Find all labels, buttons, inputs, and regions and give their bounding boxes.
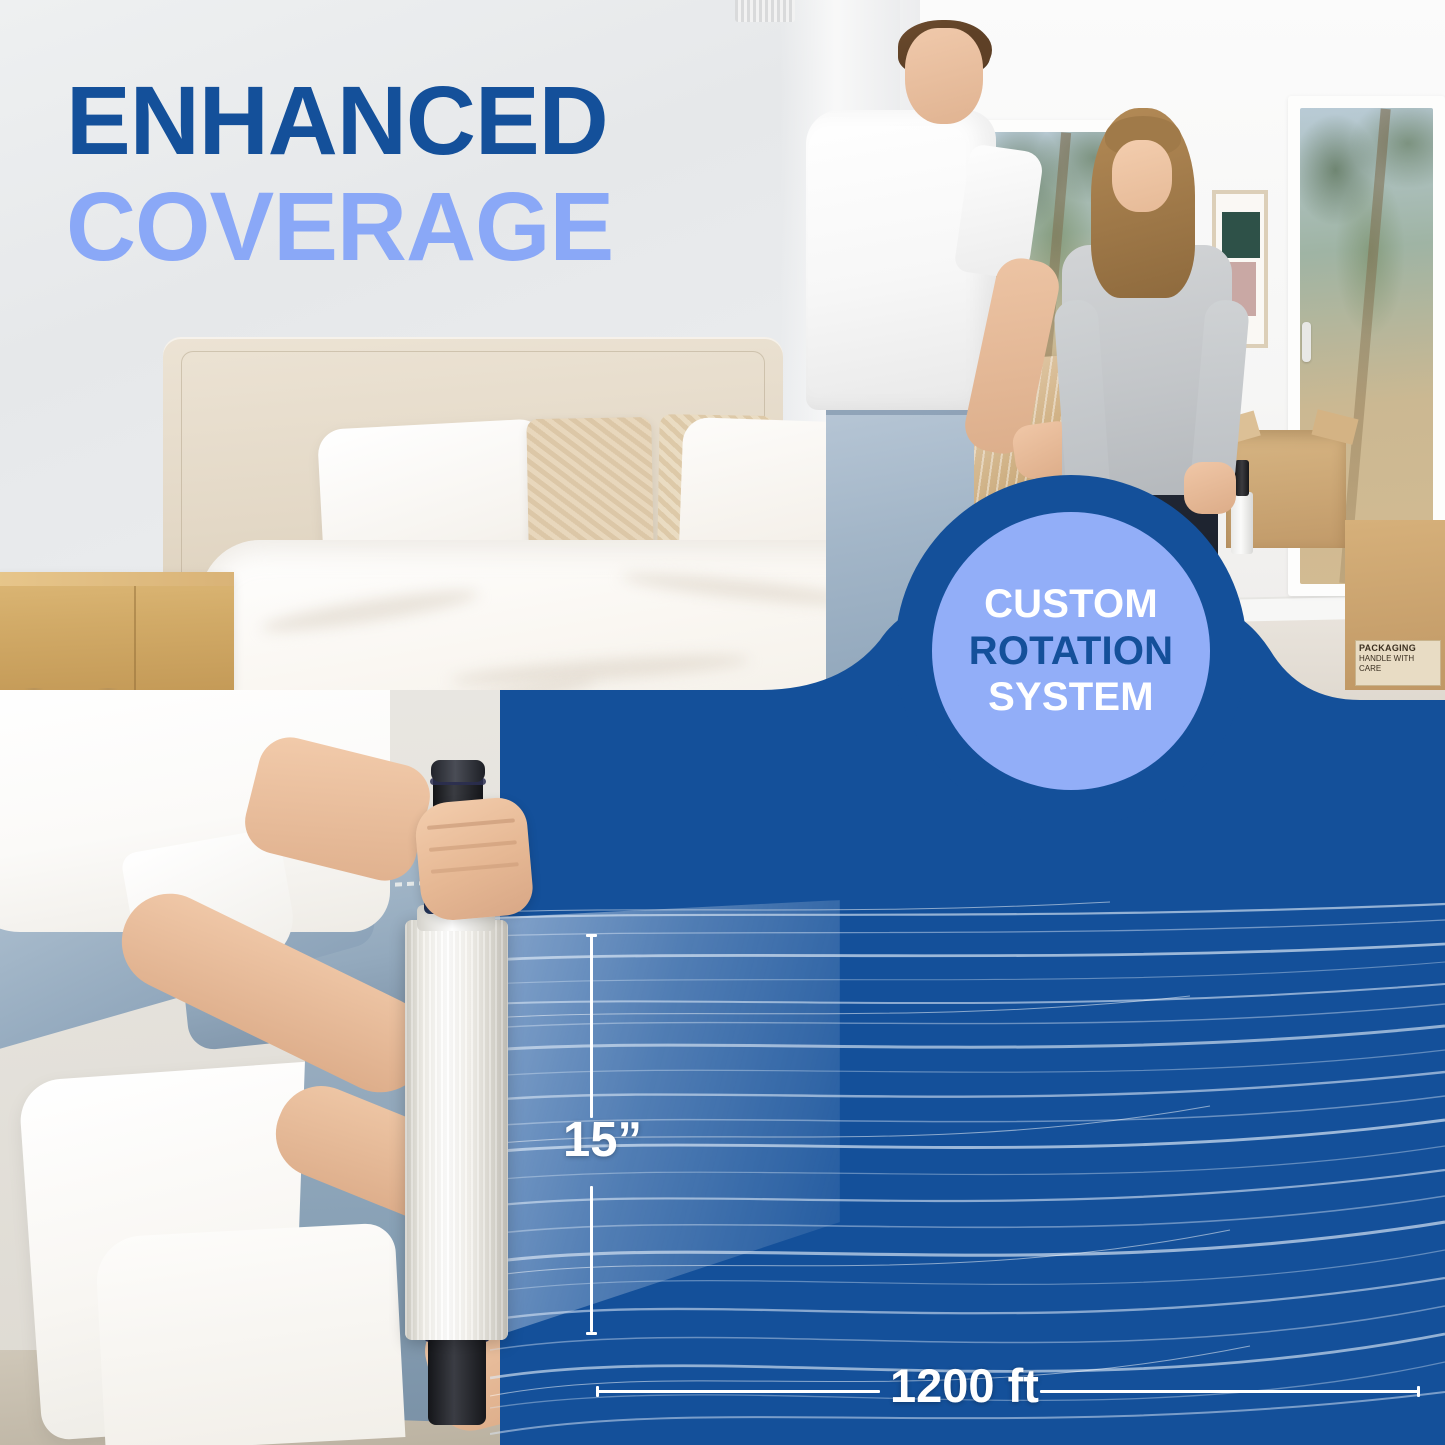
handle-top-knob [431,760,485,782]
length-cap-right [1417,1386,1420,1397]
length-dimension-label: 1200 ft [890,1358,1039,1413]
height-segment-lower [590,1186,593,1332]
badge-line-rotation: ROTATION [969,629,1174,674]
height-cap-bottom [586,1332,597,1335]
man-head [905,28,983,124]
headline-line-coverage: COVERAGE [66,175,826,280]
headline-line-enhanced: ENHANCED [66,72,826,169]
gripping-hand [413,795,535,922]
length-segment-right [1040,1390,1418,1393]
box-shipping-label: PACKAGING HANDLE WITH CARE [1355,640,1441,686]
badge-inner-circle: CUSTOM ROTATION SYSTEM [932,512,1210,790]
headline: ENHANCED COVERAGE [66,72,826,280]
person-tshirt-hem [95,1222,406,1445]
nightstand [0,572,234,692]
height-segment-upper [590,936,593,1118]
window-handle [1302,322,1311,362]
product-feature-poster: PACKAGING HANDLE WITH CARE [0,0,1445,1445]
woman-hand [1184,462,1236,514]
woman-face [1112,140,1172,212]
length-segment-left [598,1390,880,1393]
stretch-film-roll [405,920,508,1340]
badge-line-system: SYSTEM [988,675,1154,720]
roll-bottom-handle [428,1335,486,1425]
box-label-line1: PACKAGING [1359,643,1437,654]
box-label-line2: HANDLE WITH [1359,654,1414,663]
badge-line-custom: CUSTOM [984,582,1158,627]
ceiling-vent [735,0,795,22]
box-label-line3: CARE [1359,664,1381,673]
height-dimension-label: 15” [563,1112,642,1168]
